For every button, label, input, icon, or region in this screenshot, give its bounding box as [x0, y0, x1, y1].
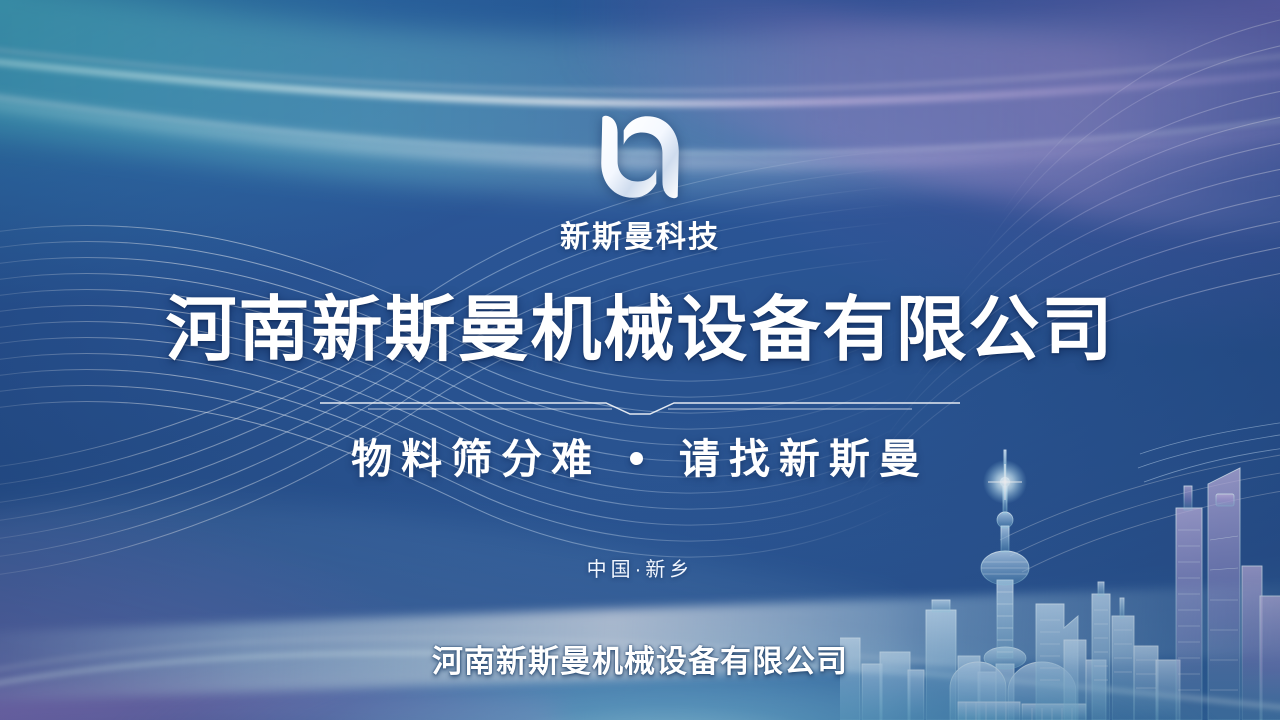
- tagline-right: 请找新斯曼: [679, 436, 929, 482]
- caption-text: 河南新斯曼机械设备有限公司: [0, 636, 1280, 681]
- logo-wordmark: 新斯曼科技: [560, 212, 720, 256]
- title-card-stage: 新斯曼科技 河南新斯曼机械设备有限公司 物料筛分难 请找新斯曼 中国·新乡 河南…: [0, 0, 1280, 720]
- bullet-separator-icon: [630, 452, 643, 465]
- page-title: 河南新斯曼机械设备有限公司: [0, 296, 1280, 367]
- location-label: 中国·新乡: [0, 553, 1280, 582]
- tagline-left: 物料筛分难: [351, 436, 601, 482]
- infinity-swirl-logo-icon: [589, 108, 691, 206]
- brand-lockup: 新斯曼科技: [0, 108, 1280, 256]
- tagline: 物料筛分难 请找新斯曼: [0, 425, 1280, 485]
- v-notch-rule: [320, 397, 960, 419]
- content-layer: 新斯曼科技 河南新斯曼机械设备有限公司 物料筛分难 请找新斯曼 中国·新乡 河南…: [0, 0, 1280, 720]
